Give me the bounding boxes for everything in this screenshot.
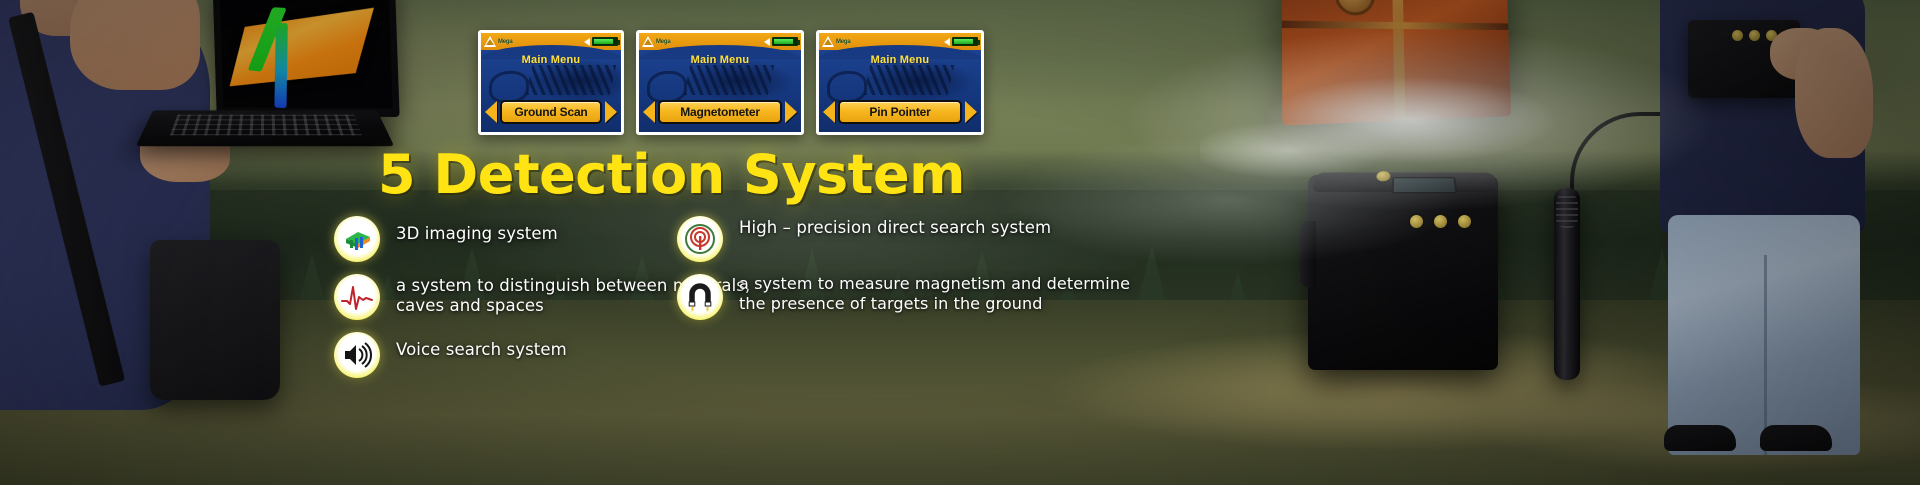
scan-terrain-plate [230, 8, 374, 87]
device-screen-ground-scan[interactable]: Mega Main Menu Ground Scan [478, 30, 624, 135]
screen-header: Main Menu [481, 54, 621, 66]
mode-selector[interactable]: Ground Scan [485, 100, 617, 124]
operator-right-shoe-right [1760, 425, 1832, 451]
device-connector-group [1732, 30, 1777, 41]
battery-icon [772, 37, 798, 46]
list-item: High – precision direct search system [677, 216, 1137, 262]
feature-label: Voice search system [396, 332, 567, 360]
scan-anomaly-depth [274, 23, 287, 108]
feature-label: a system to measure magnetism and determ… [739, 274, 1137, 313]
detector-handle [1300, 221, 1316, 287]
3d-graph-icon [334, 216, 380, 262]
operator-left-bag [150, 240, 280, 400]
battery-icon [952, 37, 978, 46]
prev-mode-arrow-icon[interactable] [823, 101, 835, 123]
mode-selector[interactable]: Pin Pointer [823, 100, 977, 124]
feature-label: 3D imaging system [396, 216, 558, 244]
laptop-lid [213, 0, 400, 117]
detector-knob-icon [1456, 213, 1473, 230]
screen-status-bar: Mega [819, 33, 981, 50]
waveform-icon [334, 274, 380, 320]
mode-button[interactable]: Ground Scan [500, 100, 602, 124]
speaker-icon [334, 332, 380, 378]
page-title: 5 Detection System [378, 143, 965, 206]
brand-logo-icon [484, 36, 496, 47]
list-item: Voice search system [334, 332, 754, 378]
operator-right-legs [1668, 215, 1860, 455]
operator-right-arm [1795, 28, 1873, 158]
detector-port-icon [1376, 171, 1390, 181]
chest-lock-icon [1334, 0, 1375, 16]
screen-header: Main Menu [639, 54, 801, 66]
speaker-icon [584, 38, 590, 46]
detector-knob-icon [1408, 213, 1425, 230]
detector-control-unit [1308, 175, 1498, 370]
brand-logo-icon [642, 36, 654, 47]
battery-icon [592, 37, 618, 46]
feature-list-right: High – precision direct search system a … [677, 216, 1137, 332]
prev-mode-arrow-icon[interactable] [485, 101, 497, 123]
next-mode-arrow-icon[interactable] [605, 101, 617, 123]
laptop-keyboard [170, 115, 362, 136]
brand-label: Mega [656, 39, 671, 45]
device-knob-icon [1749, 30, 1760, 41]
detector-body [1308, 175, 1498, 370]
laptop-screen [220, 0, 393, 108]
detector-connector-group [1408, 213, 1473, 230]
list-item: a system to measure magnetism and determ… [677, 274, 1137, 320]
signal-target-icon [677, 216, 723, 262]
next-mode-arrow-icon[interactable] [965, 101, 977, 123]
detector-top-panel [1311, 173, 1498, 192]
mode-button[interactable]: Pin Pointer [838, 100, 962, 124]
detector-knob-icon [1432, 213, 1449, 230]
device-knob-icon [1732, 30, 1743, 41]
brand-label: Mega [836, 39, 851, 45]
screen-header: Main Menu [819, 54, 981, 66]
search-probe [1554, 188, 1580, 380]
feature-label: High – precision direct search system [739, 216, 1051, 238]
detector-display [1392, 177, 1458, 194]
laptop-with-3d-scan [145, 0, 385, 158]
detector-promo-banner: Mega Main Menu Ground Scan Mega [0, 0, 1920, 485]
speaker-icon [944, 38, 950, 46]
operator-right-shoe-left [1664, 425, 1736, 451]
screen-status-bar: Mega [481, 33, 621, 50]
mode-button[interactable]: Magnetometer [658, 100, 782, 124]
treasure-chest [1282, 0, 1511, 126]
speaker-icon [764, 38, 770, 46]
device-screen-group: Mega Main Menu Ground Scan Mega [478, 30, 984, 135]
next-mode-arrow-icon[interactable] [785, 101, 797, 123]
device-screen-pin-pointer[interactable]: Mega Main Menu Pin Pointer [816, 30, 984, 135]
laptop-base [136, 110, 394, 146]
prev-mode-arrow-icon[interactable] [643, 101, 655, 123]
device-screen-magnetometer[interactable]: Mega Main Menu Magnetometer [636, 30, 804, 135]
magnet-icon [677, 274, 723, 320]
screen-status-bar: Mega [639, 33, 801, 50]
brand-label: Mega [498, 39, 513, 45]
mode-selector[interactable]: Magnetometer [643, 100, 797, 124]
brand-logo-icon [822, 36, 834, 47]
